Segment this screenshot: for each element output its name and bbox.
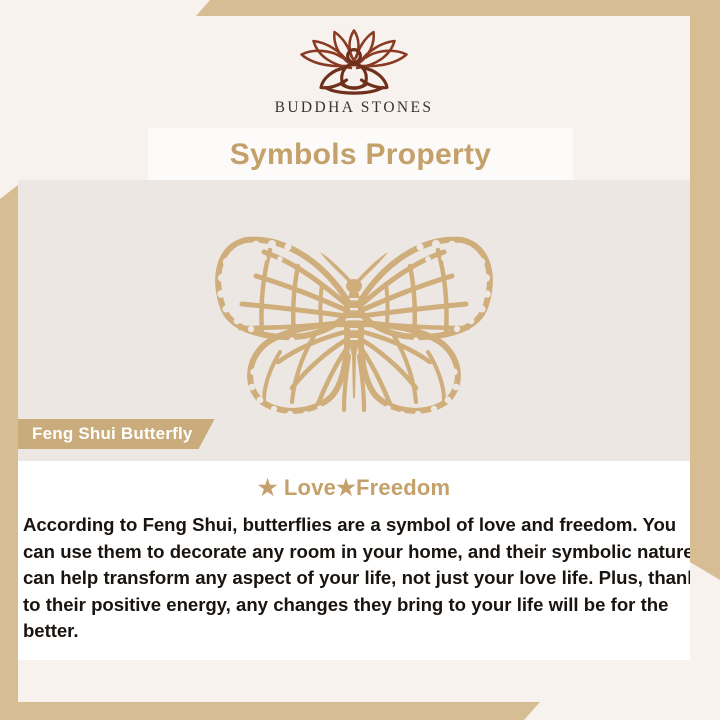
- frame-band-left: [0, 185, 18, 720]
- lotus-meditation-icon: [279, 26, 429, 98]
- category-ribbon: Feng Shui Butterfly: [18, 419, 215, 449]
- title-banner: Symbols Property: [148, 128, 573, 181]
- description-body: According to Feng Shui, butterflies are …: [18, 512, 690, 645]
- butterfly-icon: [194, 228, 514, 428]
- brand-name: BUDDHA STONES: [275, 99, 434, 117]
- description-card: ★ Love★Freedom According to Feng Shui, b…: [18, 461, 690, 660]
- brand-header: BUDDHA STONES: [18, 16, 690, 121]
- frame-band-top: [196, 0, 720, 16]
- showcase-panel: [18, 180, 690, 461]
- frame-band-bottom: [0, 702, 540, 720]
- poster-canvas: BUDDHA STONES Symbols Property: [0, 0, 720, 720]
- category-ribbon-label: Feng Shui Butterfly: [32, 424, 193, 444]
- poster-page: BUDDHA STONES Symbols Property: [18, 16, 690, 702]
- page-title: Symbols Property: [230, 138, 492, 172]
- frame-band-right: [690, 0, 720, 580]
- description-heading: ★ Love★Freedom: [18, 475, 690, 501]
